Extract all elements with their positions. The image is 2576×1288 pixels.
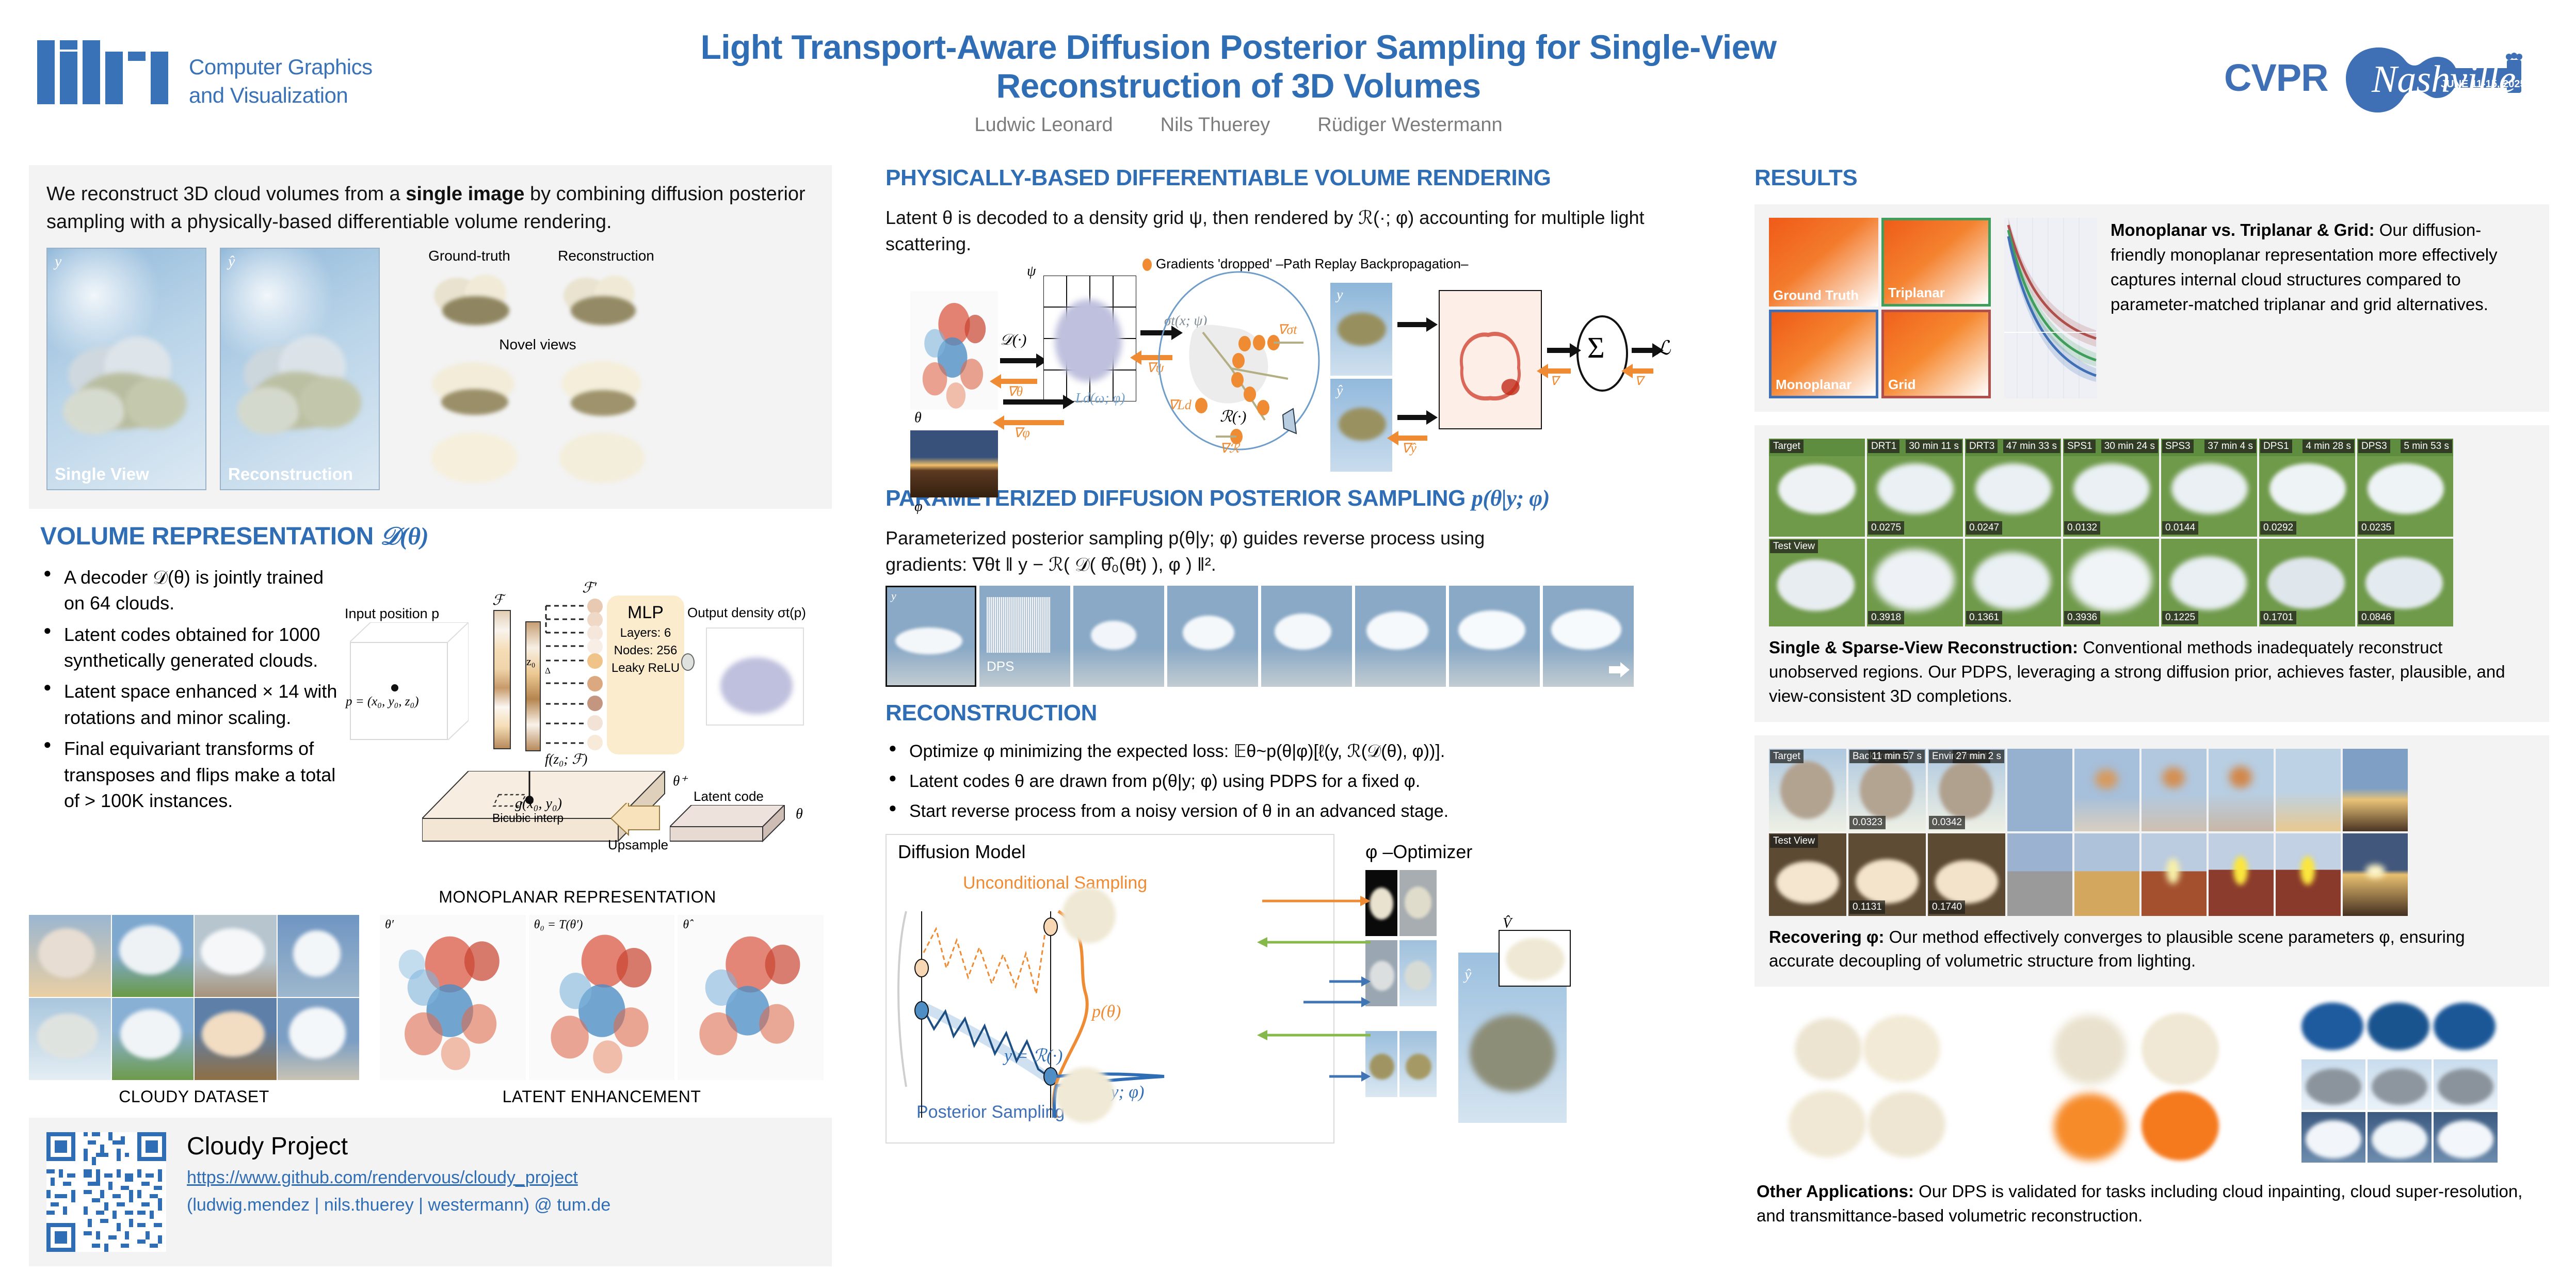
env-frame	[2209, 833, 2274, 916]
single-view-image: y Single View	[46, 248, 206, 490]
list-item: Latent space enhanced × 14 with rotation…	[40, 679, 340, 731]
sparse-view-caption: Single & Sparse-View Reconstruction: Con…	[1769, 636, 2535, 709]
superres-and-transmittance-examples	[2038, 1003, 2296, 1168]
convergence-chart	[2004, 218, 2097, 398]
error-value: 0.0323	[1849, 816, 1886, 829]
grad-yhat-label: ∇ŷ	[1402, 441, 1416, 456]
mlp-block: MLP Layers: 6 Nodes: 256 Leaky ReLU	[607, 595, 684, 754]
runtime-label: 30 min 24 s	[2101, 440, 2158, 453]
monoplanar-caption: MONOPLANAR REPRESENTATION	[329, 888, 826, 907]
pbr-diagram: Gradients 'dropped' –Path Replay Backpro…	[886, 259, 1691, 476]
error-value: 0.1225	[2162, 611, 2198, 624]
reconstruction-bullets: Optimize φ minimizing the expected loss:…	[886, 739, 1717, 824]
dps-frame	[1073, 586, 1164, 687]
table-cell: DPS3 5 min 53 s 0.0235	[2357, 439, 2453, 537]
dataset-thumb	[278, 998, 360, 1080]
dataset-thumb	[195, 998, 277, 1080]
render-label: ℛ(·)	[1220, 408, 1246, 426]
intro-text-bold: single image	[406, 183, 524, 205]
phi-optimizer-title: φ –Optimizer	[1365, 841, 1472, 863]
table-cell: 0.3936	[2063, 539, 2159, 626]
volume-representation-section: VOLUME REPRESENTATION 𝒟(θ) A decoder 𝒟(θ…	[29, 509, 832, 907]
quad-cell-triplanar: Triplanar	[1881, 218, 1991, 307]
list-item: Final equivariant transforms of transpos…	[40, 736, 340, 814]
table-cell: 0.1225	[2161, 539, 2257, 626]
novel-views-top-row	[393, 266, 682, 332]
error-value: 0.0235	[2358, 521, 2394, 535]
bicubic-label: Bicubic interp	[492, 811, 564, 825]
method-label: DRT1	[1868, 440, 1899, 453]
table-cell: DRT1 30 min 11 s 0.0275	[1867, 439, 1963, 537]
dps-sequence-strip: y DPS	[886, 586, 1717, 687]
cloud-thumbnail	[541, 266, 662, 332]
loss-label: ℒ	[1656, 336, 1670, 360]
method-label: DPS1	[2260, 440, 2292, 453]
caption-bold: Monoplanar vs. Triplanar & Grid:	[2111, 220, 2375, 239]
table-cell: 0.1701	[2259, 539, 2355, 626]
results-block-recovering-phi: Target Background 11 min 57 s 0.0323 Env…	[1754, 735, 2549, 987]
method-label: SPS3	[2162, 440, 2194, 453]
table-cell: 0.1361	[1965, 539, 2061, 626]
final-yhat-label: ŷ	[1464, 966, 1471, 984]
grad-label-2: ∇	[1635, 374, 1643, 389]
recovering-phi-caption: Recovering φ: Our method effectively con…	[1769, 925, 2535, 974]
latent-label: θ′	[385, 918, 394, 932]
cloud-thumbnail	[413, 266, 535, 332]
cvpr-wordmark: CVPR	[2224, 56, 2328, 100]
dps-target-frame: y	[886, 586, 976, 687]
cvpr-logo: CVPR Nashville JUNE 11-15, 2025	[2224, 36, 2534, 124]
ground-truth-header: Ground-truth	[409, 248, 530, 264]
mlp-nodes: Nodes: 256	[607, 643, 684, 658]
dataset-captions: CLOUDY DATASET LATENT ENHANCEMENT	[29, 1087, 832, 1106]
mlp-activation: Leaky ReLU	[607, 661, 684, 675]
grad-Ld-label: ∇Ld	[1168, 397, 1192, 413]
pbr-heading: PHYSICALLY-BASED DIFFERENTIABLE VOLUME R…	[886, 165, 1717, 191]
error-value: 0.0275	[1868, 521, 1904, 535]
dataset-thumb	[112, 915, 194, 997]
runtime-label: 11 min 57 s	[1869, 750, 1925, 763]
env-frame	[2074, 749, 2139, 831]
y-equals-label: y = ℛ(·)	[1004, 1045, 1062, 1066]
results-heading: RESULTS	[1754, 165, 2549, 191]
dps-y-label: y	[891, 589, 896, 603]
project-title: Cloudy Project	[187, 1132, 610, 1161]
affiliation-line-1: Computer Graphics	[189, 53, 373, 81]
latent-code-label: Latent code	[694, 788, 764, 804]
table-cell: Test View	[1769, 833, 1846, 916]
representation-comparison-grid: Ground Truth Triplanar Monoplanar Grid	[1769, 218, 1991, 398]
project-emails: (ludwig.mendez | nils.thuerey | westerma…	[187, 1195, 610, 1215]
pdps-body-b: gradients: ∇θt ‖ y − ℛ( 𝒟( θ̂₀(θt) ), φ …	[886, 551, 1717, 577]
dps-frame	[1449, 586, 1540, 687]
table-cell: Test View	[1769, 539, 1865, 626]
comparison-row-1: Target DRT1 30 min 11 s 0.0275 DRT3 47 m…	[1769, 439, 2535, 537]
reconstruction-image: ŷ Reconstruction	[220, 248, 380, 490]
vr-heading-text: VOLUME REPRESENTATION	[40, 523, 374, 550]
table-cell: Background 11 min 57 s 0.0323	[1848, 749, 1926, 831]
caption-bold: Single & Sparse-View Reconstruction:	[1769, 638, 2078, 657]
cloud-thumbnail	[413, 427, 535, 493]
y-label: y	[1337, 287, 1343, 303]
method-label: DRT3	[1966, 440, 1998, 453]
mlp-title: MLP	[607, 603, 684, 623]
diffusion-model-title: Diffusion Model	[898, 841, 1025, 863]
table-cell: 0.1131	[1848, 833, 1926, 916]
grad-theta-label: ∇θ	[1007, 384, 1023, 399]
test-view-label: Test View	[1770, 540, 1818, 553]
quad-label: Grid	[1888, 377, 1915, 393]
input-position-label: Input position p	[345, 606, 439, 622]
middle-column: PHYSICALLY-BASED DIFFERENTIABLE VOLUME R…	[886, 165, 1717, 1144]
method-label: Target	[1770, 440, 1804, 453]
error-value: 0.1361	[1966, 611, 2002, 624]
dataset-thumb	[29, 915, 111, 997]
error-value: 0.1131	[1849, 900, 1885, 914]
page-title: Light Transport-Aware Diffusion Posterio…	[547, 28, 1930, 105]
dps-frame	[1167, 586, 1258, 687]
volume-representation-body: A decoder 𝒟(θ) is jointly trained on 64 …	[40, 565, 826, 884]
env-frame	[2007, 833, 2072, 916]
gradients-legend: Gradients 'dropped' –Path Replay Backpro…	[1142, 256, 1468, 272]
env-frame	[2007, 749, 2072, 831]
orange-dot-icon	[1142, 259, 1152, 271]
pbr-body: Latent θ is decoded to a density grid ψ,…	[886, 204, 1717, 257]
affiliation: Computer Graphics and Visualization	[189, 40, 373, 110]
p-theta-label: p(θ)	[1092, 1002, 1121, 1022]
error-value: 0.0342	[1929, 816, 1965, 829]
dataset-thumb	[195, 915, 277, 997]
cloudy-dataset-figure	[29, 915, 359, 1080]
mlp-layers: Layers: 6	[607, 626, 684, 640]
project-footer: Cloudy Project https://www.github.com/re…	[29, 1118, 832, 1266]
quad-cell-grid: Grid	[1881, 310, 1991, 398]
error-value: 0.3936	[2064, 611, 2100, 624]
results-block-sparse-view: Target DRT1 30 min 11 s 0.0275 DRT3 47 m…	[1754, 425, 2549, 722]
latent-code-slab-icon	[670, 805, 799, 862]
dataset-thumb	[29, 998, 111, 1080]
table-cell: DPS1 4 min 28 s 0.0292	[2259, 439, 2355, 537]
novel-views-row-2	[393, 355, 682, 493]
tum-logo-icon	[37, 40, 176, 104]
runtime-label: 4 min 28 s	[2303, 440, 2354, 453]
theta-plus-label: θ⁺	[673, 773, 687, 789]
cloud-thumbnail	[413, 355, 535, 421]
monoplanar-caption: Monoplanar vs. Triplanar & Grid: Our dif…	[2111, 218, 2535, 316]
error-value: 0.0292	[2260, 521, 2296, 535]
env-frame	[2343, 833, 2408, 916]
env-frame	[2276, 749, 2341, 831]
latent-map: θ̂	[678, 915, 824, 1080]
cloudy-dataset-grid	[29, 915, 359, 1080]
novel-views-label: Novel views	[393, 336, 682, 353]
latent-map: θ₀ = T(θ′)	[529, 915, 675, 1080]
table-cell: 0.3918	[1867, 539, 1963, 626]
reconstruction-header: Reconstruction	[545, 248, 667, 264]
gradients-legend-text: Gradients 'dropped' –Path Replay Backpro…	[1156, 256, 1468, 271]
right-column: RESULTS Ground Truth Triplanar Monoplana…	[1754, 165, 2549, 1228]
reconstruction-heading: RECONSTRUCTION	[886, 700, 1717, 726]
env-frame	[2074, 833, 2139, 916]
optimizer-pair-image	[1399, 1031, 1437, 1097]
dps-label: DPS	[987, 658, 1014, 674]
error-value: 0.0132	[2064, 521, 2100, 535]
table-cell: Environment 27 min 2 s 0.0342	[1928, 749, 2005, 831]
transmittance-grid	[2301, 1003, 2518, 1168]
results-block-monoplanar: Ground Truth Triplanar Monoplanar Grid	[1754, 204, 2549, 412]
table-cell: 0.1740	[1928, 833, 2005, 916]
env-frame	[2276, 833, 2341, 916]
latent-enhancement-figure: θ′ θ₀ = T(θ′)	[380, 915, 824, 1080]
project-info: Cloudy Project https://www.github.com/re…	[187, 1132, 610, 1215]
latent-map: θ′	[380, 915, 526, 1080]
diffusion-model-diagram: Diffusion Model Unconditional Sampling P…	[886, 834, 1691, 1144]
list-item: A decoder 𝒟(θ) is jointly trained on 64 …	[40, 565, 340, 617]
pdps-body-a: Parameterized posterior sampling p(θ|y; …	[886, 525, 1717, 551]
upsample-arrow-icon	[611, 803, 663, 836]
optimizer-arrows	[1247, 880, 1371, 1107]
runtime-label: 30 min 11 s	[1906, 440, 1962, 453]
grad-render-label: ∇ℛ	[1220, 441, 1239, 456]
intro-panel: We reconstruct 3D cloud volumes from a s…	[29, 165, 832, 509]
author-1: Ludwic Leonard	[974, 114, 1113, 136]
vhat-inset-image	[1499, 930, 1571, 987]
dps-frame	[1543, 586, 1634, 687]
dataset-thumb	[112, 998, 194, 1080]
output-density-label: Output density σt(p)	[687, 605, 806, 621]
title-line-1: Light Transport-Aware Diffusion Posterio…	[701, 28, 1777, 66]
caption-bold: Other Applications:	[1757, 1182, 1914, 1201]
other-applications-caption: Other Applications: Our DPS is validated…	[1757, 1180, 2547, 1228]
poster-header: Computer Graphics and Visualization Ligh…	[0, 0, 2576, 155]
error-value: 0.0846	[2358, 611, 2394, 624]
cloudy-dataset-caption: CLOUDY DATASET	[29, 1087, 359, 1106]
phi-label: φ	[914, 498, 923, 515]
cloud-thumbnail	[541, 355, 662, 421]
qr-code-icon[interactable]	[46, 1132, 166, 1252]
pdps-heading: PARAMETERIZED DIFFUSION POSTERIOR SAMPLI…	[886, 485, 1717, 511]
vr-heading-math: 𝒟(θ)	[380, 523, 429, 550]
table-cell: SPS3 37 min 4 s 0.0144	[2161, 439, 2257, 537]
method-label: DPS3	[2358, 440, 2390, 453]
cube-icon	[350, 622, 469, 741]
yhat-label: ŷ	[1337, 383, 1343, 399]
grad-phi-label: ∇φ	[1013, 425, 1030, 441]
theta-label: θ	[914, 410, 922, 426]
z0-label: z₀	[526, 655, 535, 668]
table-cell: Target	[1769, 439, 1865, 537]
intro-text-a: We reconstruct 3D cloud volumes from a	[46, 183, 406, 205]
author-3: Rüdiger Westermann	[1317, 114, 1502, 136]
method-label: SPS1	[2064, 440, 2096, 453]
intro-figures: y Single View ŷ Reconstruction Ground-tr…	[46, 248, 814, 493]
quad-label: Monoplanar	[1776, 377, 1852, 393]
env-frame	[2343, 749, 2408, 831]
volume-representation-bullets: A decoder 𝒟(θ) is jointly trained on 64 …	[40, 565, 340, 884]
cloud-thumbnail	[541, 427, 662, 493]
error-image	[1439, 290, 1542, 429]
reconstruction-symbol: ŷ	[228, 253, 235, 270]
table-cell: Target	[1769, 749, 1846, 831]
sum-label: Σ	[1587, 330, 1605, 365]
runtime-label: 5 min 53 s	[2401, 440, 2452, 453]
novel-views-panel: Ground-truth Reconstruction	[393, 248, 682, 493]
tum-logo: Computer Graphics and Visualization	[37, 40, 373, 110]
error-value: 0.3918	[1868, 611, 1904, 624]
upsample-label: Upsample	[608, 837, 668, 853]
quad-cell-ground-truth: Ground Truth	[1769, 218, 1878, 307]
env-frame	[2142, 833, 2207, 916]
quad-label: Triplanar	[1888, 285, 1945, 301]
reconstruction-caption: Reconstruction	[228, 464, 353, 484]
error-value: 0.0144	[2162, 521, 2198, 535]
author-list: Ludwic Leonard Nils Thuerey Rüdiger West…	[547, 114, 1930, 136]
psi-label: ψ	[1027, 263, 1036, 280]
list-item: Optimize φ minimizing the expected loss:…	[886, 739, 1717, 764]
dps-frame	[1355, 586, 1446, 687]
error-value: 0.0247	[1966, 521, 2002, 535]
env-frame	[2142, 749, 2207, 831]
latent-label: θ₀ = T(θ′)	[534, 918, 583, 932]
project-url-link[interactable]: https://www.github.com/rendervous/cloudy…	[187, 1168, 610, 1188]
table-cell: SPS1 30 min 24 s 0.0132	[2063, 439, 2159, 537]
point-formula: p = (x₀, y₀, z₀)	[346, 695, 419, 709]
single-view-caption: Single View	[55, 464, 149, 484]
runtime-label: 37 min 4 s	[2204, 440, 2256, 453]
list-item: Latent codes obtained for 1000 synthetic…	[40, 622, 340, 674]
error-value: 0.1740	[1929, 900, 1965, 914]
runtime-label: 47 min 33 s	[2003, 440, 2060, 453]
phi-row-1: Target Background 11 min 57 s 0.0323 Env…	[1769, 749, 2535, 831]
env-frame	[2209, 749, 2274, 831]
vhat-label: V̂	[1503, 915, 1511, 932]
volume-representation-heading: VOLUME REPRESENTATION 𝒟(θ)	[40, 522, 826, 551]
phi-environment-image	[910, 430, 998, 497]
left-column: We reconstruct 3D cloud volumes from a s…	[29, 165, 832, 1266]
latent-enhancement-caption: LATENT ENHANCEMENT	[380, 1087, 824, 1106]
quad-cell-monoplanar: Monoplanar	[1769, 310, 1878, 398]
list-item: Latent codes θ are drawn from p(θ|y; φ) …	[886, 769, 1717, 794]
theta-symbol: θ	[796, 806, 803, 823]
title-line-2: Reconstruction of 3D Volumes	[996, 67, 1480, 105]
novel-views-headers: Ground-truth Reconstruction	[393, 248, 682, 264]
g-formula: g(x₀, y₀)	[515, 796, 562, 812]
intro-text: We reconstruct 3D cloud volumes from a s…	[46, 181, 814, 236]
dataset-row: θ′ θ₀ = T(θ′)	[29, 915, 832, 1080]
runtime-label: 27 min 2 s	[1953, 750, 2004, 763]
phi-row-2: Test View 0.1131 0.1740	[1769, 833, 2535, 916]
pdps-heading-math: p(θ|y; φ)	[1472, 486, 1550, 511]
dps-frame	[1261, 586, 1352, 687]
affiliation-line-2: and Visualization	[189, 81, 373, 109]
Ld-label: Ld(ω; φ)	[1075, 390, 1125, 406]
caption-bold: Recovering φ:	[1769, 927, 1885, 946]
cvpr-dates: JUNE 11-15, 2025	[2441, 78, 2526, 90]
author-2: Nils Thuerey	[1161, 114, 1270, 136]
inpainting-examples	[1785, 1003, 2033, 1168]
theta-latent-image	[910, 291, 998, 410]
dataset-thumb	[278, 915, 360, 997]
error-value: 0.1701	[2260, 611, 2296, 624]
optimizer-pair-image	[1399, 870, 1437, 936]
comparison-row-2: Test View 0.3918 0.1361 0.3936 0.1225 0.…	[1769, 539, 2535, 626]
decoder-label: 𝒟(·)	[1000, 331, 1026, 349]
method-label: Target	[1770, 750, 1804, 763]
feature-prime-symbol: ℱ′	[582, 579, 597, 597]
table-cell: DRT3 47 min 33 s 0.0247	[1965, 439, 2061, 537]
poster-root: Computer Graphics and Visualization Ligh…	[0, 0, 2576, 1288]
grad-label: ∇	[1550, 374, 1558, 389]
table-cell: 0.0846	[2357, 539, 2453, 626]
latent-enhancement-grid: θ′ θ₀ = T(θ′)	[380, 915, 824, 1080]
single-view-symbol: y	[55, 253, 61, 270]
quad-label: Ground Truth	[1773, 287, 1859, 303]
title-block: Light Transport-Aware Diffusion Posterio…	[547, 28, 1930, 136]
results-block-other-applications: Other Applications: Our DPS is validated…	[1754, 1000, 2549, 1228]
test-view-label: Test View	[1770, 834, 1818, 848]
arrow-right-icon	[1609, 662, 1630, 678]
optimizer-pair-image	[1399, 940, 1437, 1006]
applications-figure	[1757, 1000, 2547, 1170]
grad-sigma-label: ∇σt	[1278, 322, 1297, 337]
monoplanar-diagram: Input position p p = (x₀, y₀, z₀) ℱ z₀ Δ…	[345, 565, 825, 884]
latent-label: θ̂	[683, 918, 689, 932]
list-item: Start reverse process from a noisy versi…	[886, 799, 1717, 824]
dps-frame: DPS	[979, 586, 1070, 687]
feature-symbol: ℱ	[492, 591, 504, 609]
